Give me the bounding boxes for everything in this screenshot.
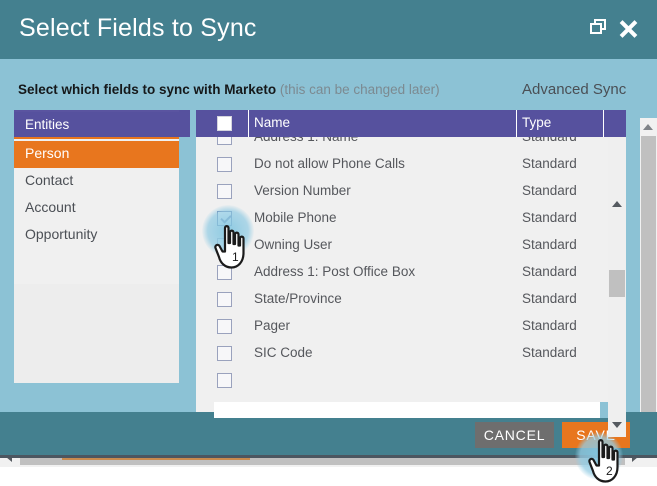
header-separator-one [248, 110, 249, 137]
field-name-cell: Owning User [254, 237, 332, 252]
partial-row-white-strip [214, 402, 600, 418]
field-name-cell: State/Province [254, 291, 342, 306]
fields-table-header: Name Type [196, 110, 626, 137]
field-name-cell: Version Number [254, 183, 351, 198]
header-separator-two [516, 110, 517, 137]
scroll-down-arrow-icon[interactable] [612, 422, 622, 428]
sidebar-item-person[interactable]: Person [14, 141, 179, 168]
entities-header: Entities [14, 112, 179, 139]
dialog-title: Select Fields to Sync [19, 14, 257, 43]
table-row[interactable]: Address 1: NameStandard [196, 137, 626, 151]
dialog-footer: CANCEL SAVE [0, 412, 657, 458]
header-separator-three [603, 110, 604, 137]
field-name-cell: Address 1: Name [254, 137, 358, 144]
instruction-text: Select which fields to sync with Marketo… [18, 82, 440, 97]
field-type-cell: Standard [522, 237, 577, 252]
field-name-cell: SIC Code [254, 345, 313, 360]
field-type-cell: Standard [522, 156, 577, 171]
entities-header-label: Entities [25, 117, 69, 132]
table-row[interactable]: Mobile PhoneStandard [196, 205, 626, 232]
sidebar-item-account[interactable]: Account [14, 195, 179, 222]
row-checkbox[interactable] [217, 184, 232, 199]
field-name-cell: Address 1: Post Office Box [254, 264, 415, 279]
field-type-cell: Standard [522, 291, 577, 306]
field-name-cell: Pager [254, 318, 290, 333]
field-type-cell: Standard [522, 137, 577, 144]
row-checkbox[interactable] [217, 346, 232, 361]
field-type-cell: Standard [522, 210, 577, 225]
row-checkbox[interactable] [217, 373, 232, 388]
table-scrollbar-thumb[interactable] [609, 270, 625, 297]
entities-panel: Entities Person Contact Account Opportun… [14, 110, 179, 381]
table-vertical-scrollbar[interactable] [608, 137, 626, 437]
table-row[interactable]: PagerStandard [196, 313, 626, 340]
sidebar-item-opportunity[interactable]: Opportunity [14, 222, 179, 249]
dialog-titlebar: Select Fields to Sync [0, 0, 657, 59]
select-all-checkbox[interactable] [217, 116, 232, 131]
restore-window-icon[interactable] [590, 19, 612, 41]
column-header-type[interactable]: Type [522, 115, 551, 130]
field-name-cell: Mobile Phone [254, 210, 337, 225]
scroll-up-arrow-icon[interactable] [612, 201, 622, 207]
entities-empty-area-bottom [14, 284, 179, 383]
field-type-cell: Standard [522, 318, 577, 333]
footer-underline [62, 458, 250, 460]
table-row[interactable]: Version NumberStandard [196, 178, 626, 205]
field-name-cell: Do not allow Phone Calls [254, 156, 405, 171]
row-checkbox[interactable] [217, 292, 232, 307]
entities-empty-area-top [14, 249, 179, 284]
entities-header-stub [179, 110, 190, 137]
instruction-strong: Select which fields to sync with Marketo [18, 82, 276, 97]
advanced-sync-link[interactable]: Advanced Sync [522, 81, 626, 98]
table-row[interactable] [196, 367, 626, 394]
sidebar-item-contact[interactable]: Contact [14, 168, 179, 195]
row-checkbox[interactable] [217, 238, 232, 253]
instruction-muted: (this can be changed later) [280, 82, 440, 97]
column-header-name[interactable]: Name [254, 115, 290, 130]
row-checkbox[interactable] [217, 265, 232, 280]
field-type-cell: Standard [522, 183, 577, 198]
restore-square-front [590, 23, 602, 34]
fields-table-panel: Name Type Address 1: NameStandardDo not … [196, 110, 626, 437]
table-row[interactable]: Do not allow Phone CallsStandard [196, 151, 626, 178]
select-fields-to-sync-dialog: Select Fields to Sync Select which field… [0, 0, 657, 486]
page-scroll-up-arrow-icon[interactable] [643, 124, 653, 130]
field-type-cell: Standard [522, 345, 577, 360]
row-checkbox[interactable] [217, 319, 232, 334]
row-checkbox[interactable] [217, 157, 232, 172]
page-scrollbar-thumb[interactable] [641, 136, 656, 419]
cancel-button[interactable]: CANCEL [475, 422, 554, 448]
table-row[interactable]: Address 1: Post Office BoxStandard [196, 259, 626, 286]
fields-rows-viewport: Address 1: NameStandardDo not allow Phon… [196, 137, 626, 437]
close-icon[interactable] [618, 19, 640, 41]
fields-rows-list: Address 1: NameStandardDo not allow Phon… [196, 137, 626, 394]
table-row[interactable]: State/ProvinceStandard [196, 286, 626, 313]
row-checkbox[interactable] [217, 137, 232, 145]
table-row[interactable]: SIC CodeStandard [196, 340, 626, 367]
dialog-body: Select which fields to sync with Marketo… [0, 59, 657, 412]
row-checkbox[interactable] [217, 211, 232, 226]
table-row[interactable]: Owning UserStandard [196, 232, 626, 259]
field-type-cell: Standard [522, 264, 577, 279]
